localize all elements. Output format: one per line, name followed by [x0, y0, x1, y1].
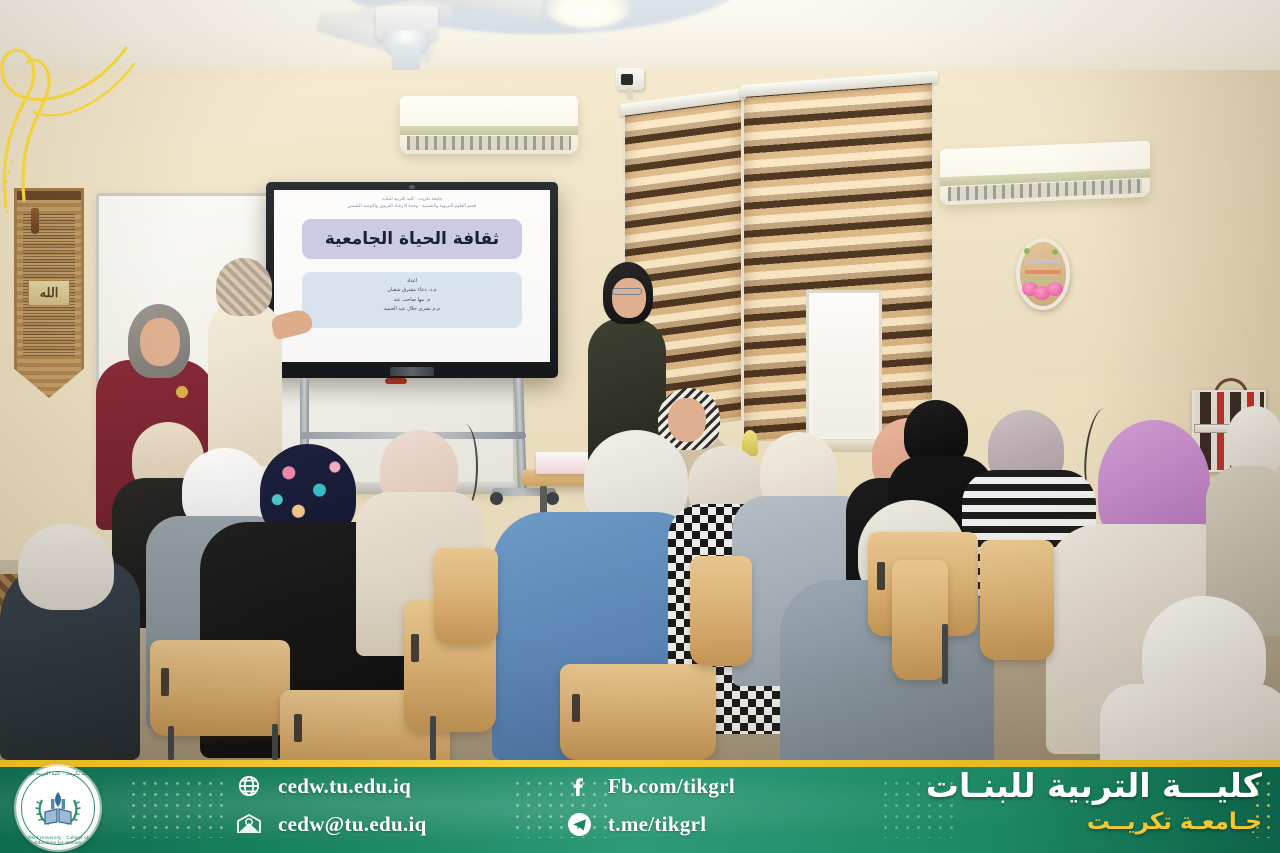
chair-leg — [430, 716, 436, 760]
classroom-chair — [980, 540, 1054, 660]
whiteboard-marker — [385, 378, 407, 384]
classroom-chair — [892, 560, 948, 680]
footer-dot-pattern — [128, 778, 224, 838]
globe-icon — [236, 773, 262, 799]
facebook-handle: Fb.com/tikgrl — [608, 774, 735, 799]
presentation-screen: جامعة تكريت - كلية التربية للبنات قسم ال… — [274, 190, 550, 362]
slide-author: م. مها صاحب عبد — [316, 296, 509, 305]
smartboard-camera-icon — [409, 185, 415, 189]
ceiling-fan-stem — [392, 44, 420, 70]
contact-email[interactable]: cedw@tu.edu.iq — [236, 811, 427, 837]
contact-website[interactable]: cedw.tu.edu.iq — [236, 773, 427, 799]
envelope-icon — [236, 811, 262, 837]
slide-prepared-label: اعداد — [316, 277, 509, 286]
contact-facebook[interactable]: Fb.com/tikgrl — [566, 773, 735, 799]
air-conditioner-right — [940, 141, 1150, 206]
security-camera-lens — [621, 74, 633, 85]
footer-brand: كليـــة التربية للبنـات جـامعـة تكريــت — [926, 768, 1262, 837]
screenshot-root: الله جامعة تكريت - كلية التربية — [0, 0, 1280, 853]
small-window — [806, 290, 882, 442]
telegram-handle: t.me/tikgrl — [608, 812, 706, 837]
slide-author: م.د. دعاء مشرق شعبان — [316, 286, 509, 295]
presenter-brooch — [176, 386, 188, 398]
wall-hanging-tassel — [31, 208, 39, 234]
slide-header-line-2: قسم العلوم التربوية والنفسية - وحدة الار… — [307, 203, 517, 210]
brand-subtitle: جـامعـة تكريــت — [926, 809, 1262, 837]
smartboard-display: جامعة تكريت - كلية التربية للبنات قسم ال… — [266, 182, 558, 378]
crest-emblem — [29, 779, 87, 837]
smartboard-brand-bar — [390, 367, 434, 376]
footer-contacts-left: cedw.tu.edu.iq cedw@tu.edu.iq — [236, 773, 427, 837]
slide-title: ثقافة الحياة الجامعية — [302, 219, 523, 259]
security-camera-arm — [627, 88, 633, 100]
brand-title: كليـــة التربية للبنـات — [926, 768, 1262, 805]
chair-leg — [272, 724, 278, 760]
email-address: cedw@tu.edu.iq — [278, 812, 427, 837]
wall-hanging-calligraphy: الله — [28, 280, 70, 306]
board-stand-wheel — [490, 492, 503, 505]
classroom-chair — [150, 640, 290, 736]
board-stand-wheel — [546, 492, 559, 505]
classroom-photo: الله جامعة تكريت - كلية التربية — [0, 0, 1280, 760]
telegram-icon — [566, 811, 592, 837]
contact-telegram[interactable]: t.me/tikgrl — [566, 811, 735, 837]
crest-arabic-text: جامعة تكريت - كلية التربية للبنات — [16, 771, 100, 777]
air-conditioner-left — [400, 96, 578, 154]
decor-dot — [1024, 248, 1030, 254]
classroom-chair — [434, 548, 498, 644]
slide-header-line-1: جامعة تكريت - كلية التربية للبنات — [307, 196, 517, 203]
book-torch-wheat-icon — [35, 788, 81, 828]
facebook-icon — [566, 773, 592, 799]
classroom-chair — [690, 556, 752, 666]
decor-dot — [1052, 249, 1058, 255]
islamic-wall-hanging: الله — [14, 188, 84, 398]
college-crest-logo: جامعة تكريت - كلية التربية للبنات Tikrit… — [16, 766, 100, 850]
classroom-chair — [560, 664, 716, 760]
slide-author: م.م بشرى جلال عبد الحميد — [316, 305, 509, 314]
presenter-glasses-icon — [612, 288, 642, 295]
footer-contacts-right: Fb.com/tikgrl t.me/tikgrl — [566, 773, 735, 837]
chair-leg — [942, 624, 948, 684]
website-url: cedw.tu.edu.iq — [278, 774, 411, 799]
chair-leg — [168, 726, 174, 760]
decor-rose — [1047, 282, 1063, 296]
slide-credits: اعداد م.د. دعاء مشرق شعبان م. مها صاحب ع… — [302, 272, 523, 328]
crest-english-text: Tikrit University - College of Education… — [16, 835, 100, 845]
